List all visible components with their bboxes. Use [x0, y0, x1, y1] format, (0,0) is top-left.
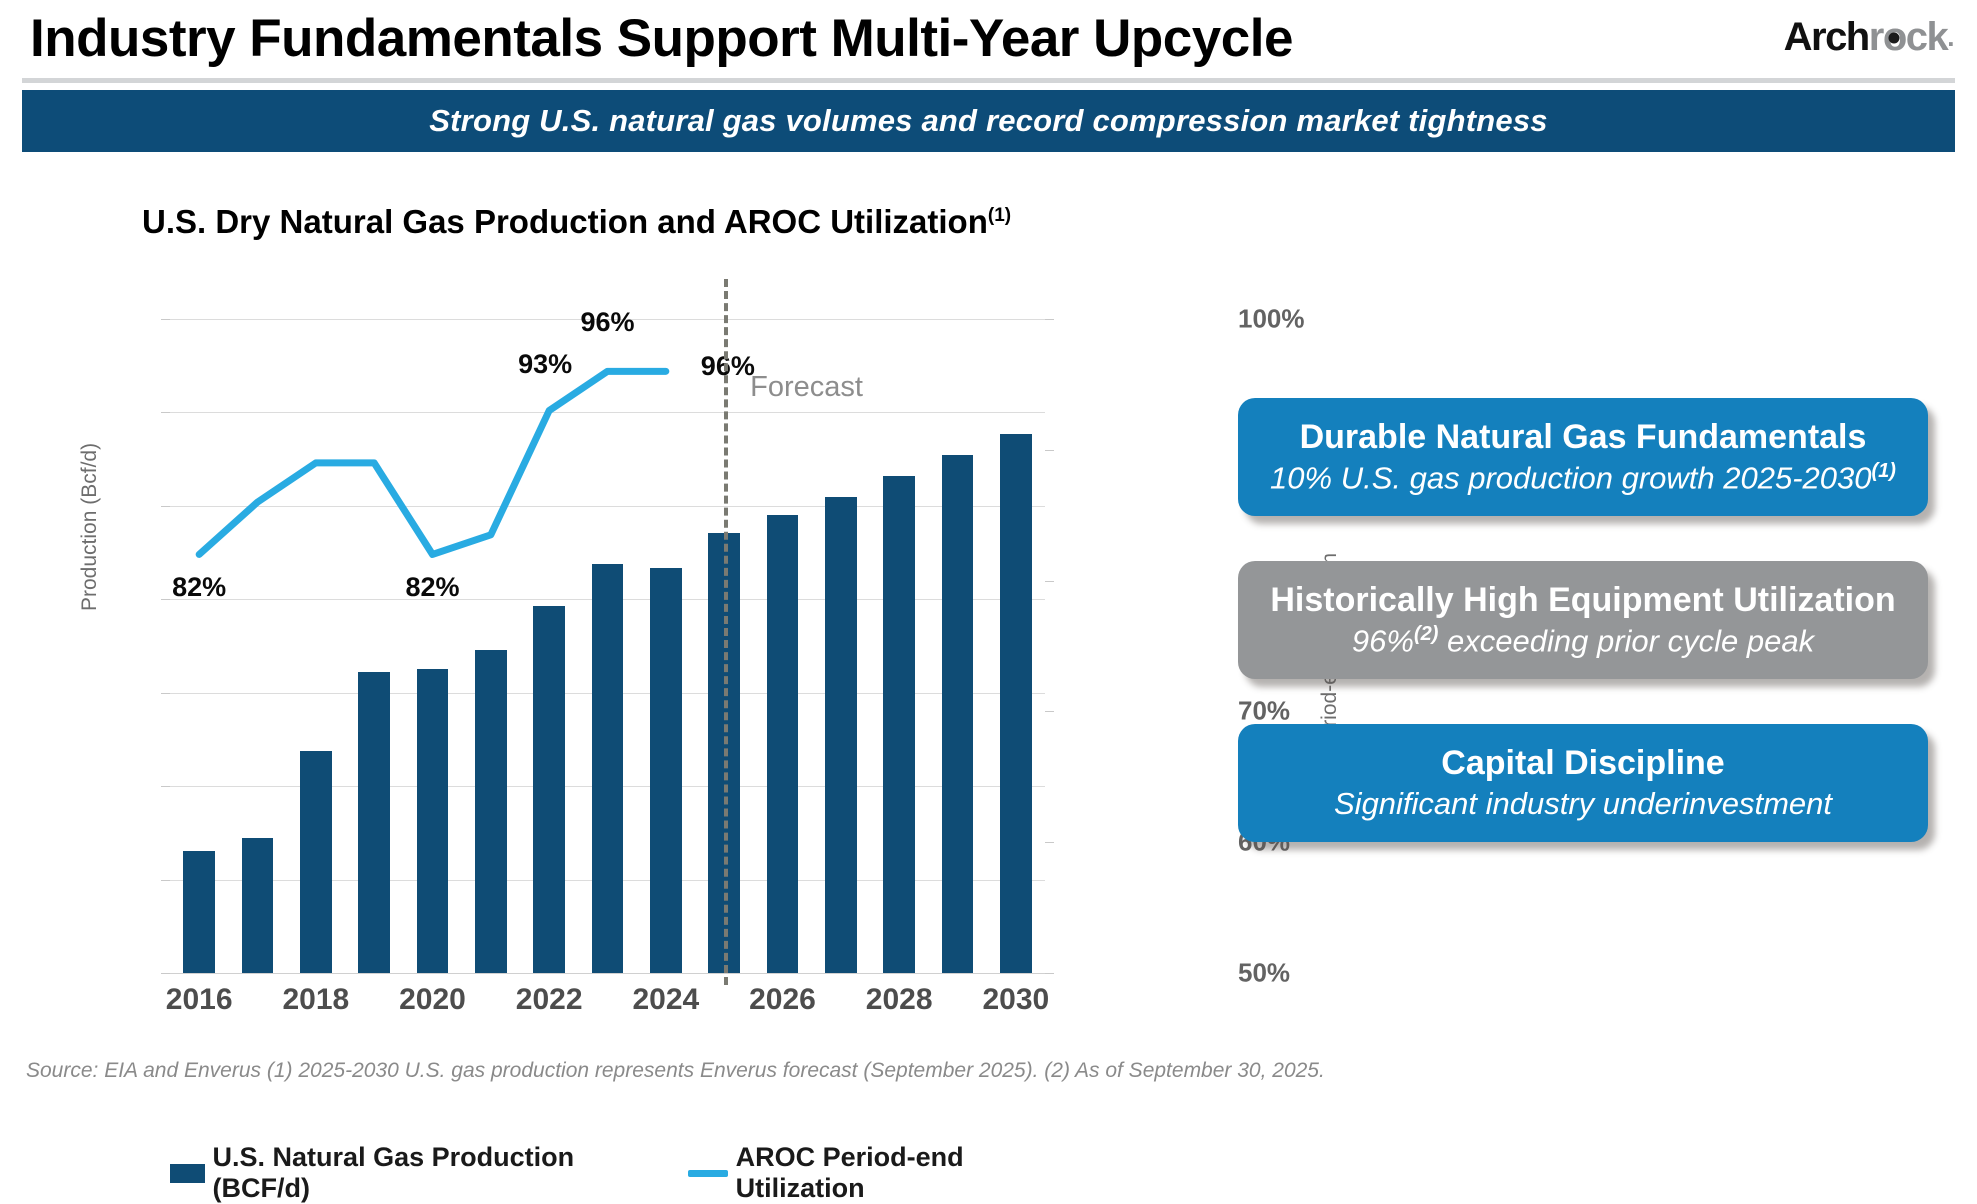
line-data-label: 82% [405, 572, 459, 603]
logo-text-arch: Arch [1784, 14, 1869, 60]
y-tick-label-right: 50% [1238, 958, 1290, 989]
x-tick-label: 2028 [866, 983, 933, 1017]
callout-subtitle-lead: 96% [1352, 623, 1414, 658]
forecast-label: Forecast [750, 371, 863, 404]
callout-subtitle: 96%(2) exceeding prior cycle peak [1352, 623, 1814, 659]
y-tick-left [161, 319, 170, 320]
x-tick-label: 2022 [516, 983, 583, 1017]
title-divider [22, 78, 1955, 83]
line-data-label: 82% [172, 572, 226, 603]
callout-footnote-ref: (2) [1414, 623, 1438, 645]
subtitle-banner: Strong U.S. natural gas volumes and reco… [22, 90, 1955, 152]
logo-text-ck: ck [1906, 14, 1948, 60]
legend-item-production: U.S. Natural Gas Production (BCF/d) [170, 1142, 615, 1204]
chart-title: U.S. Dry Natural Gas Production and AROC… [142, 203, 1011, 241]
line-series [170, 319, 1045, 973]
y-tick-right [1045, 319, 1054, 320]
y-tick-right [1045, 450, 1054, 451]
y-tick-label-right: 70% [1238, 696, 1290, 727]
callout-title: Durable Natural Gas Fundamentals [1300, 418, 1867, 456]
x-tick-label: 2024 [632, 983, 699, 1017]
y-tick-left [161, 599, 170, 600]
callout-historically-high-equipment-utilization: Historically High Equipment Utilization … [1238, 561, 1928, 679]
legend-bar-swatch-icon [170, 1164, 205, 1183]
y-tick-right [1045, 711, 1054, 712]
logo-text-r: r [1869, 14, 1883, 60]
legend-label-utilization: AROC Period-end Utilization [736, 1142, 1050, 1204]
page-title: Industry Fundamentals Support Multi-Year… [30, 8, 1670, 70]
y-tick-label-right: 100% [1238, 304, 1305, 335]
y-axis-label-left: Production (Bcf/d) [78, 443, 102, 611]
x-tick-label: 2030 [982, 983, 1049, 1017]
y-tick-left [161, 693, 170, 694]
callout-durable-natural-gas-fundamentals: Durable Natural Gas Fundamentals 10% U.S… [1238, 398, 1928, 516]
callout-capital-discipline: Capital Discipline Significant industry … [1238, 724, 1928, 842]
subtitle-text: Strong U.S. natural gas volumes and reco… [429, 103, 1547, 139]
source-footnote: Source: EIA and Enverus (1) 2025-2030 U.… [26, 1059, 1325, 1083]
chart-legend: U.S. Natural Gas Production (BCF/d) AROC… [170, 1155, 1050, 1191]
chart-panel: U.S. Dry Natural Gas Production and AROC… [0, 195, 1220, 1055]
callout-subtitle: Significant industry underinvestment [1334, 786, 1832, 822]
y-tick-left [161, 506, 170, 507]
logo-period: . [1947, 14, 1953, 60]
y-tick-left [161, 412, 170, 413]
logo-dot-icon [1889, 32, 1900, 43]
logo-letter-o-icon: o [1883, 14, 1906, 60]
legend-item-utilization: AROC Period-end Utilization [688, 1142, 1050, 1204]
x-tick-label: 2026 [749, 983, 816, 1017]
y-tick-left [161, 880, 170, 881]
y-tick-right [1045, 581, 1054, 582]
archrock-logo: Archrock. [1784, 14, 1953, 60]
forecast-divider-line [724, 279, 728, 985]
y-tick-right [1045, 973, 1054, 974]
callout-subtitle-rest: exceeding prior cycle peak [1438, 623, 1814, 658]
x-tick-label: 2016 [166, 983, 233, 1017]
line-data-label: 96% [580, 307, 634, 338]
y-tick-left [161, 973, 170, 974]
chart-title-footnote-ref: (1) [988, 205, 1011, 226]
callout-subtitle-text: 10% U.S. gas production growth 2025-2030 [1270, 460, 1871, 495]
callout-footnote-ref: (1) [1872, 460, 1896, 482]
plot-area: Production (Bcf/d) AROC Period-end Utili… [170, 319, 1045, 973]
gridline [170, 973, 1045, 974]
callout-title: Historically High Equipment Utilization [1270, 581, 1895, 619]
chart-title-text: U.S. Dry Natural Gas Production and AROC… [142, 203, 988, 240]
callout-title: Capital Discipline [1441, 744, 1724, 782]
y-tick-left [161, 786, 170, 787]
legend-label-production: U.S. Natural Gas Production (BCF/d) [213, 1142, 616, 1204]
y-tick-right [1045, 842, 1054, 843]
legend-line-swatch-icon [688, 1170, 728, 1177]
x-tick-label: 2018 [282, 983, 349, 1017]
line-data-label: 93% [518, 349, 572, 380]
x-tick-label: 2020 [399, 983, 466, 1017]
callout-subtitle: 10% U.S. gas production growth 2025-2030… [1270, 460, 1896, 496]
utilization-line [199, 371, 666, 554]
